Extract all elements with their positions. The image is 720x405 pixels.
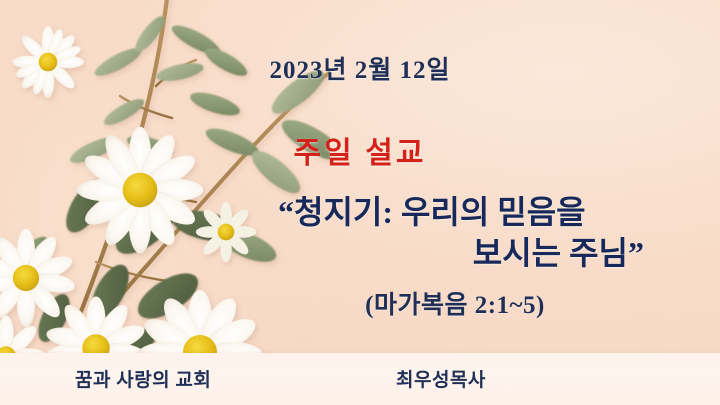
sermon-title-line2: 보시는 주님” [260,233,650,274]
scripture-reference: (마가복음 2:1~5) [260,285,650,321]
footer-bar: 꿈과 사랑의 교회 최우성목사 [0,353,720,405]
sermon-title-line1: “청지기: 우리의 믿음을 [260,192,650,233]
sermon-kicker: 주일 설교 [0,128,720,172]
church-name: 꿈과 사랑의 교회 [75,365,211,392]
sermon-slide: 2023년 2월 12일 주일 설교 “청지기: 우리의 믿음을 보시는 주님”… [0,0,720,405]
pastor-name: 최우성목사 [396,365,486,392]
sermon-date: 2023년 2월 12일 [0,50,720,86]
sermon-title: “청지기: 우리의 믿음을 보시는 주님” [260,192,650,274]
